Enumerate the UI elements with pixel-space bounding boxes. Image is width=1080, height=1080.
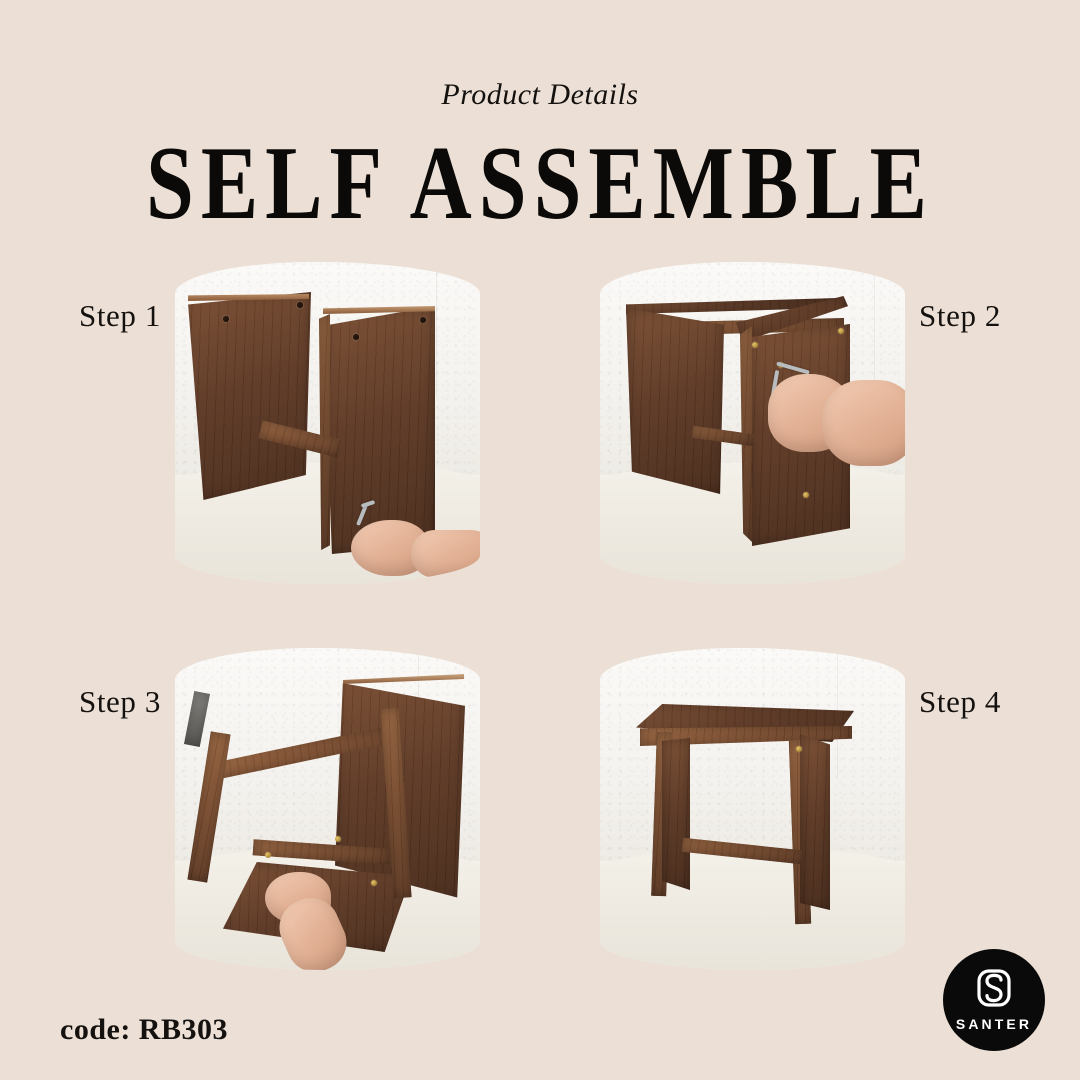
header: Product Details SELF ASSEMBLE — [0, 0, 1080, 216]
step-label-3: Step 3 — [79, 684, 161, 720]
photo-wall-4 — [600, 648, 905, 861]
bolt-4a — [796, 746, 802, 752]
page-title: SELF ASSEMBLE — [0, 130, 1080, 235]
step-card-2: Step 2 — [585, 262, 1015, 592]
forearm-2 — [822, 380, 905, 466]
bolt-2d — [752, 342, 758, 348]
step-card-4: Step 4 — [585, 648, 1015, 978]
side-panel-left-4 — [662, 738, 690, 890]
step-card-1: Step 1 — [65, 262, 495, 592]
panel-hole-1b — [297, 302, 303, 308]
brand-wordmark: SANTER — [956, 1016, 1032, 1032]
side-panel-left-1 — [183, 292, 311, 500]
product-code: code: RB303 — [60, 1013, 228, 1047]
panel-hole-1d — [420, 317, 426, 323]
brand-logo[interactable]: SANTER — [943, 949, 1045, 1051]
step-card-3: Step 3 — [65, 648, 495, 978]
panel-hole-1c — [353, 334, 359, 340]
step-label-2: Step 2 — [919, 298, 1001, 334]
step-label-4: Step 4 — [919, 684, 1001, 720]
step-photo-2 — [600, 262, 905, 584]
bolt-2c — [803, 492, 809, 498]
bolt-3b — [335, 836, 341, 842]
bolt-3a — [265, 852, 271, 858]
panel-hole-1a — [223, 316, 229, 322]
step-photo-3 — [175, 648, 480, 970]
bolt-3c — [371, 880, 377, 886]
side-panel-4 — [800, 734, 830, 910]
step-photo-1 — [175, 262, 480, 584]
eyebrow-text: Product Details — [0, 78, 1080, 112]
bolt-2a — [838, 328, 844, 334]
step-photo-4 — [600, 648, 905, 970]
side-panel-right-1 — [323, 306, 435, 554]
photo-floor-4 — [600, 848, 905, 970]
santer-monogram-icon — [976, 968, 1012, 1013]
step-label-1: Step 1 — [79, 298, 161, 334]
side-panel-left-2 — [626, 308, 724, 494]
forearm-1 — [411, 530, 480, 578]
